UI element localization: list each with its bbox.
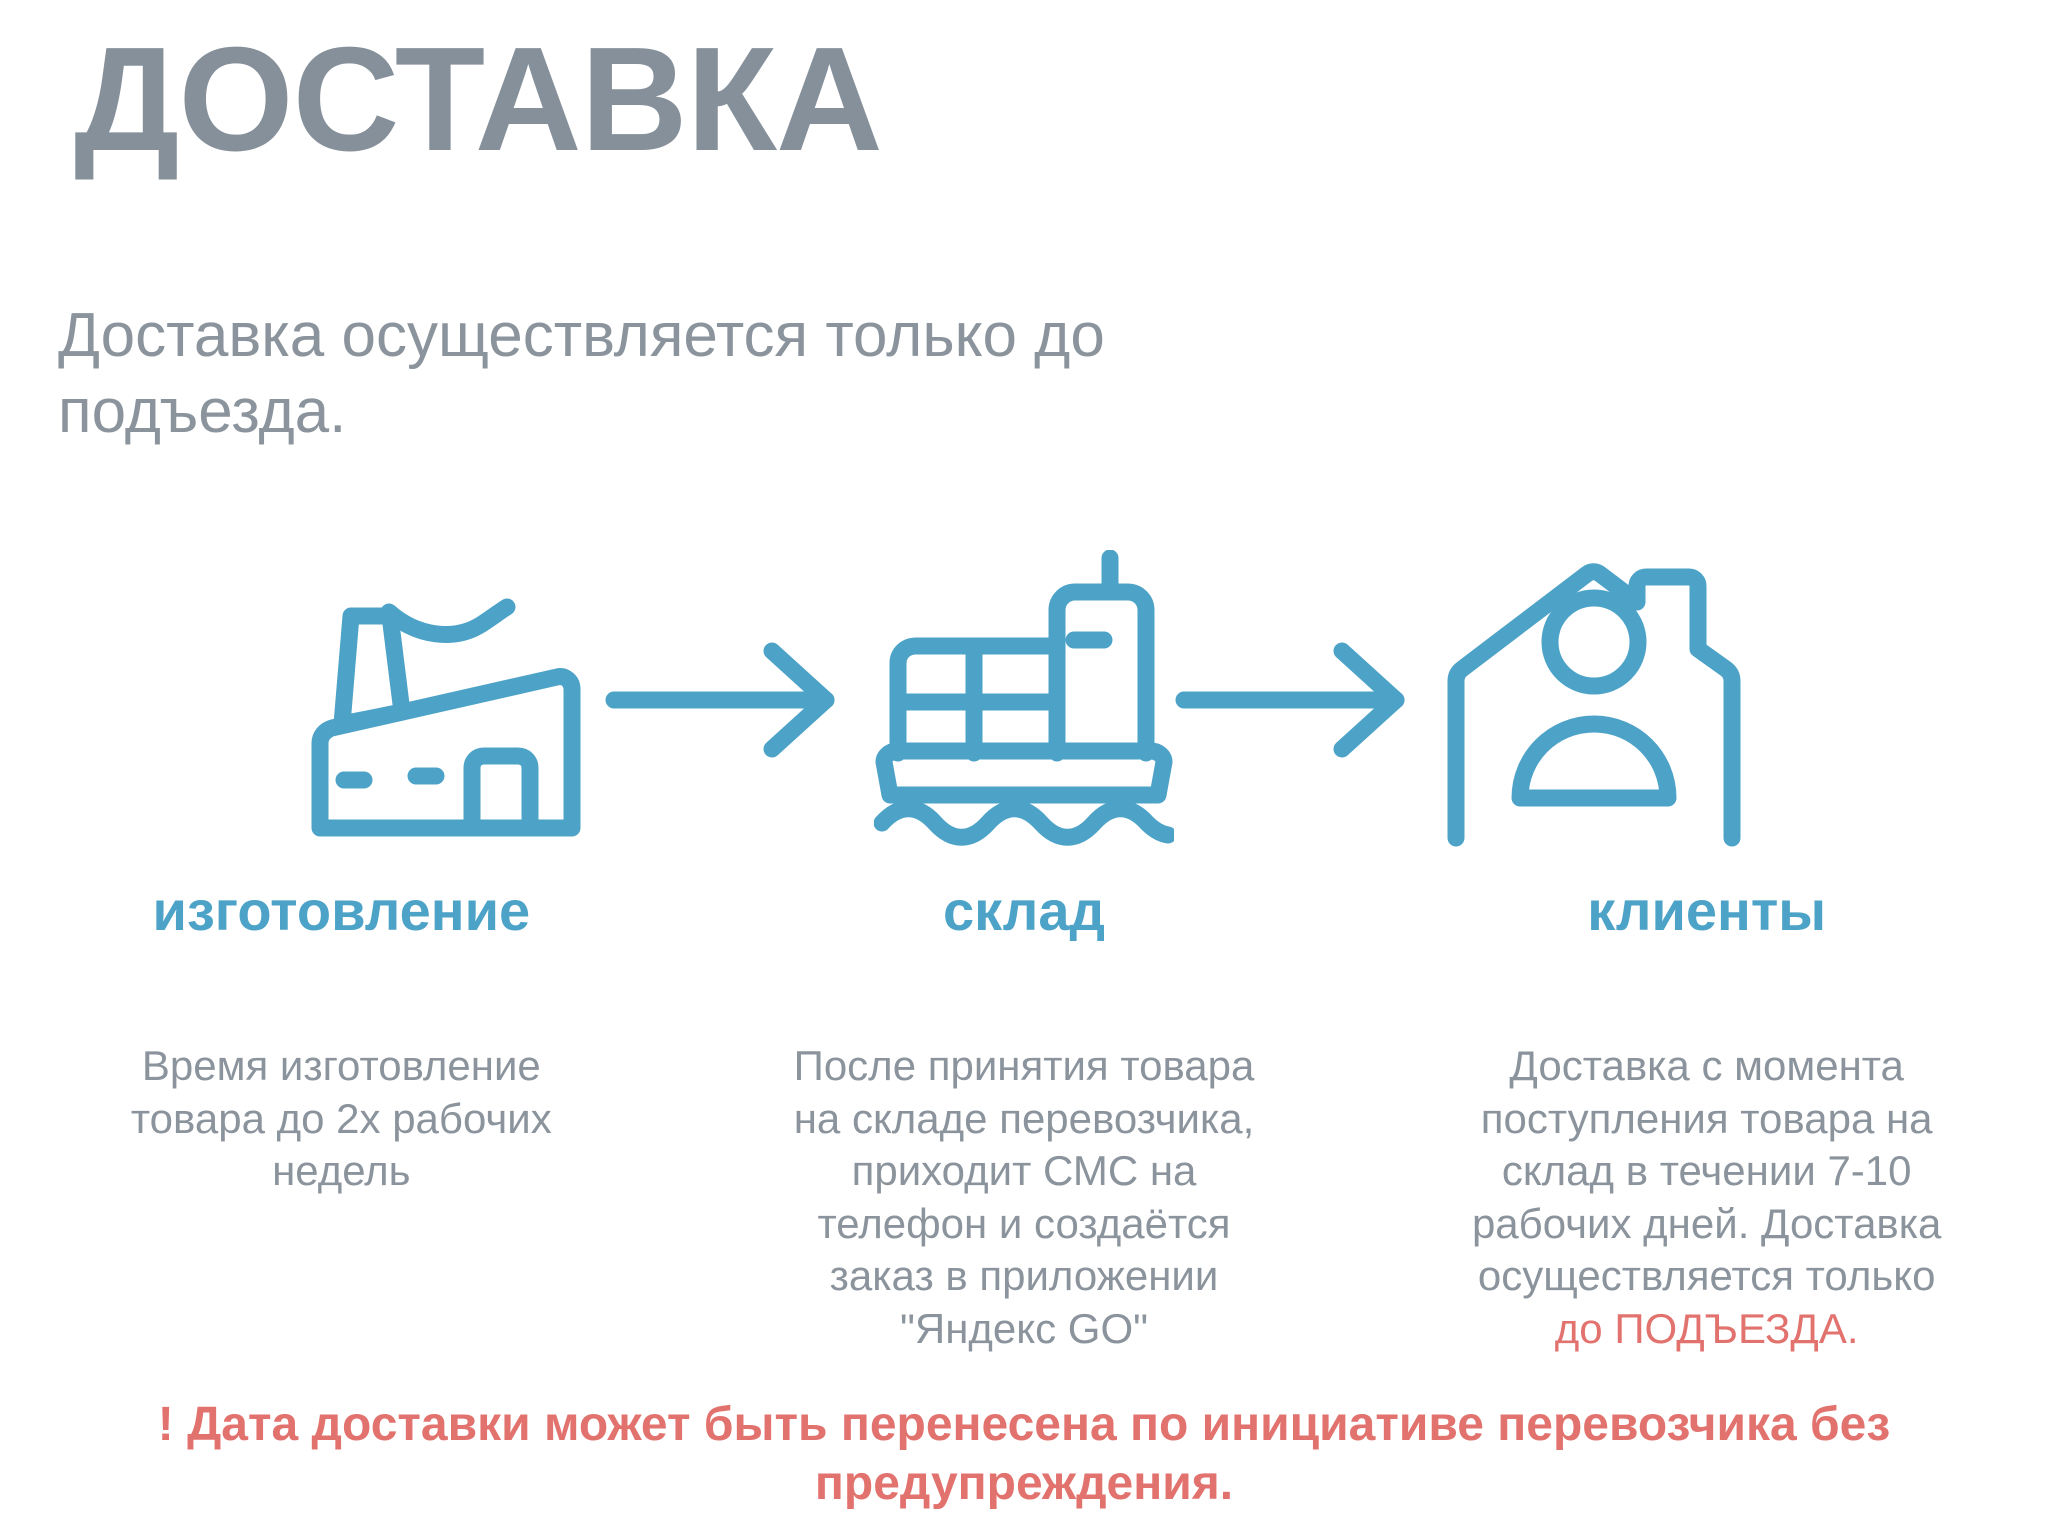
stage-description-warehouse: После принятия товара на складе перевозч… [683, 1040, 1366, 1355]
stage-labels-row: изготовление склад клиенты [0, 880, 2048, 942]
page-subtitle: Доставка осуществляется только до подъез… [58, 298, 1398, 449]
stage-description-clients: Доставка с момента поступления товара на… [1365, 1040, 2048, 1355]
stage-descriptions-row: Время изготовление товара до 2х рабочих … [0, 1040, 2048, 1355]
cargo-ship-icon [874, 550, 1174, 850]
page-title: ДОСТАВКА [74, 22, 882, 177]
delivery-warning-note: ! Дата доставки может быть перенесена по… [120, 1396, 1928, 1513]
stage-label-warehouse: склад [683, 880, 1366, 942]
arrow-right-icon [604, 635, 874, 765]
factory-icon [304, 550, 604, 850]
flow-row [0, 540, 2048, 860]
stage-label-clients: клиенты [1365, 880, 2048, 942]
stage-description-clients-highlight: до ПОДЪЕЗДА. [1555, 1305, 1859, 1352]
stage-description-manufacturing: Время изготовление товара до 2х рабочих … [0, 1040, 683, 1355]
stage-label-manufacturing: изготовление [0, 880, 683, 942]
delivery-infographic-slide: ДОСТАВКА Доставка осуществляется только … [0, 0, 2048, 1536]
arrow-right-icon-2 [1174, 635, 1444, 765]
stage-description-clients-plain: Доставка с момента поступления товара на… [1472, 1042, 1941, 1299]
house-person-icon [1444, 550, 1744, 850]
